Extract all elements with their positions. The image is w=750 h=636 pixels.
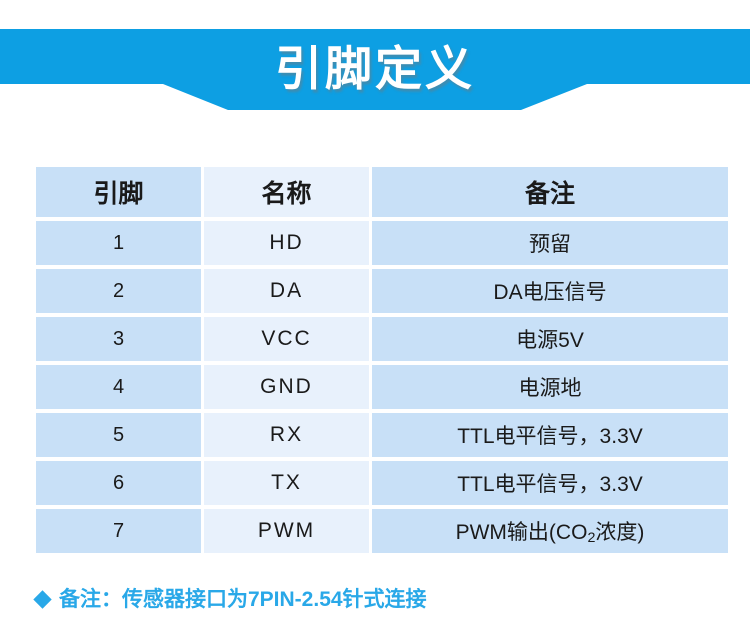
cell-name: HD bbox=[204, 221, 369, 265]
table-header-row: 引脚 名称 备注 bbox=[36, 167, 728, 217]
table-row: 1 HD 预留 bbox=[36, 221, 728, 265]
cell-note: TTL电平信号，3.3V bbox=[372, 461, 728, 505]
cell-pin: 2 bbox=[36, 269, 201, 313]
cell-note: PWM输出(CO2浓度) bbox=[372, 509, 728, 553]
note-text-prefix: PWM输出(CO bbox=[456, 521, 588, 544]
cell-note: 电源5V bbox=[372, 317, 728, 361]
table-row: 7 PWM PWM输出(CO2浓度) bbox=[36, 509, 728, 553]
column-header-name: 名称 bbox=[204, 167, 369, 217]
cell-pin: 3 bbox=[36, 317, 201, 361]
cell-note: DA电压信号 bbox=[372, 269, 728, 313]
table-row: 2 DA DA电压信号 bbox=[36, 269, 728, 313]
cell-name: GND bbox=[204, 365, 369, 409]
table-body: 1 HD 预留 2 DA DA电压信号 3 VCC 电源5V 4 GND 电源地… bbox=[36, 221, 728, 553]
pin-definition-table: 引脚 名称 备注 1 HD 预留 2 DA DA电压信号 3 VCC 电源5V … bbox=[33, 163, 731, 557]
table-row: 3 VCC 电源5V bbox=[36, 317, 728, 361]
note-subscript: 2 bbox=[587, 530, 595, 546]
page-title: 引脚定义 bbox=[0, 29, 750, 111]
cell-name: VCC bbox=[204, 317, 369, 361]
cell-note: TTL电平信号，3.3V bbox=[372, 413, 728, 457]
diamond-icon bbox=[33, 590, 51, 608]
cell-pin: 1 bbox=[36, 221, 201, 265]
cell-name: RX bbox=[204, 413, 369, 457]
note-text-suffix: 浓度) bbox=[595, 521, 644, 544]
cell-pin: 6 bbox=[36, 461, 201, 505]
cell-name: PWM bbox=[204, 509, 369, 553]
column-header-pin: 引脚 bbox=[36, 167, 201, 217]
footer-note-text: 备注：传感器接口为7PIN-2.54针式连接 bbox=[59, 583, 427, 613]
cell-pin: 4 bbox=[36, 365, 201, 409]
table-row: 5 RX TTL电平信号，3.3V bbox=[36, 413, 728, 457]
column-header-note: 备注 bbox=[372, 167, 728, 217]
cell-pin: 5 bbox=[36, 413, 201, 457]
cell-name: DA bbox=[204, 269, 369, 313]
footer-note: 备注：传感器接口为7PIN-2.54针式连接 bbox=[36, 583, 427, 613]
page-header-banner: 引脚定义 bbox=[0, 29, 750, 111]
cell-note: 预留 bbox=[372, 221, 728, 265]
table-row: 6 TX TTL电平信号，3.3V bbox=[36, 461, 728, 505]
cell-name: TX bbox=[204, 461, 369, 505]
cell-note: 电源地 bbox=[372, 365, 728, 409]
cell-pin: 7 bbox=[36, 509, 201, 553]
table-row: 4 GND 电源地 bbox=[36, 365, 728, 409]
table-header: 引脚 名称 备注 bbox=[36, 167, 728, 217]
